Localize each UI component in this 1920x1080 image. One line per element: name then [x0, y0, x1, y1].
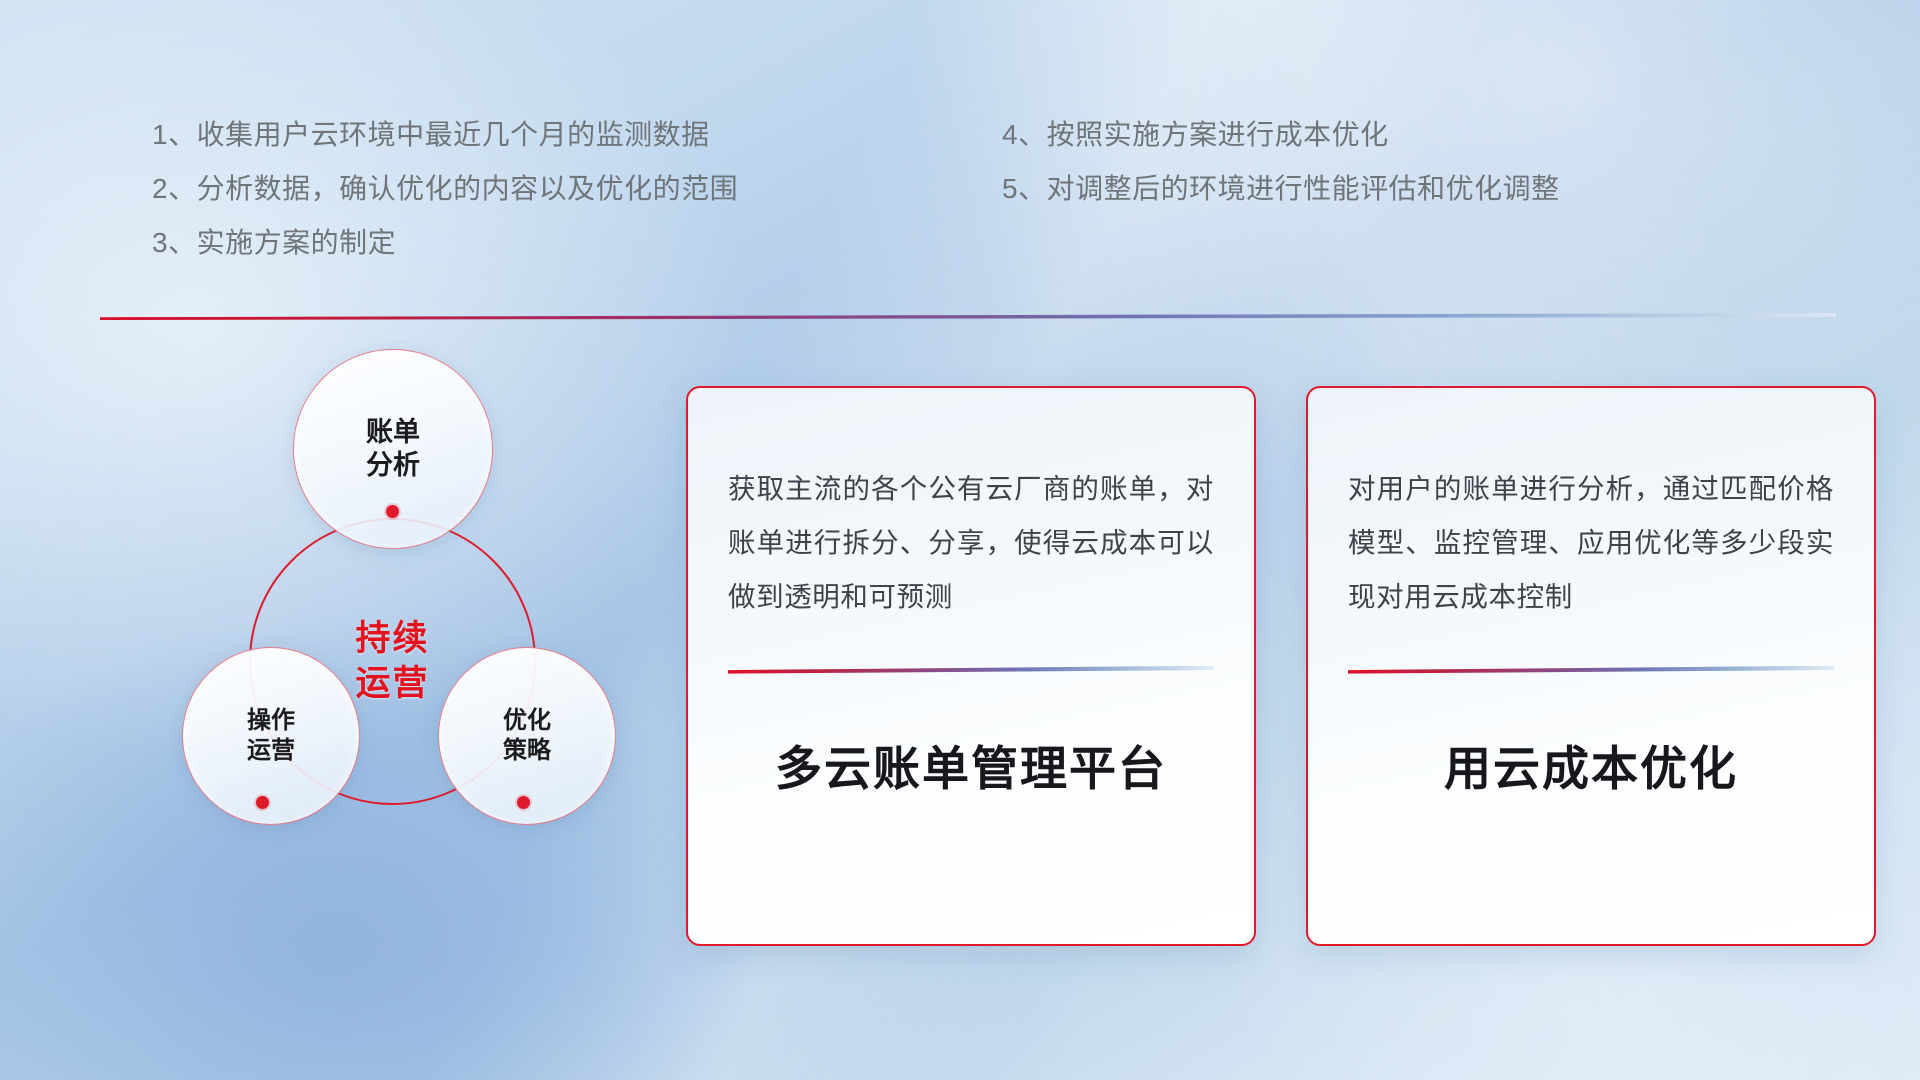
step-item: 3、实施方案的制定	[152, 216, 738, 270]
continuous-operation-diagram: 持续 运营 账单 分析 操作 运营 优化 策略	[98, 355, 638, 935]
center-label-line-2: 运营	[355, 662, 429, 706]
card-cloud-cost-optimization[interactable]: 对用户的账单进行分析，通过匹配价格模型、监控管理、应用优化等多少段实现对用云成本…	[1306, 386, 1876, 946]
center-label-line-1: 持续	[355, 617, 429, 661]
step-item: 5、对调整后的环境进行性能评估和优化调整	[1002, 162, 1560, 216]
steps-list-right: 4、按照实施方案进行成本优化 5、对调整后的环境进行性能评估和优化调整	[1002, 108, 1560, 216]
card-multicloud-bill-platform[interactable]: 获取主流的各个公有云厂商的账单，对账单进行拆分、分享，使得云成本可以做到透明和可…	[686, 386, 1256, 946]
step-item: 1、收集用户云环境中最近几个月的监测数据	[152, 108, 738, 162]
bubble-label-line-1: 优化	[503, 706, 551, 736]
bubble-label-line-1: 操作	[247, 706, 295, 736]
bubble-label-line-2: 分析	[366, 449, 420, 482]
step-item: 2、分析数据，确认优化的内容以及优化的范围	[152, 162, 738, 216]
card-divider-bar	[728, 666, 1214, 674]
connector-dot-icon	[386, 505, 399, 518]
bubble-label-line-2: 运营	[247, 736, 295, 766]
bubble-label-line-1: 账单	[366, 416, 420, 449]
slide-canvas: 1、收集用户云环境中最近几个月的监测数据 2、分析数据，确认优化的内容以及优化的…	[0, 0, 1920, 1080]
connector-dot-icon	[256, 796, 269, 809]
bubble-label-line-2: 策略	[503, 736, 551, 766]
card-divider-bar	[1348, 666, 1834, 674]
step-item: 4、按照实施方案进行成本优化	[1002, 108, 1560, 162]
card-title: 用云成本优化	[1348, 730, 1834, 799]
bubble-operation[interactable]: 操作 运营	[182, 647, 360, 825]
card-title: 多云账单管理平台	[728, 730, 1214, 799]
header-divider-bar	[100, 313, 1836, 320]
connector-dot-icon	[517, 796, 530, 809]
card-body-text: 对用户的账单进行分析，通过匹配价格模型、监控管理、应用优化等多少段实现对用云成本…	[1348, 462, 1834, 624]
card-body-text: 获取主流的各个公有云厂商的账单，对账单进行拆分、分享，使得云成本可以做到透明和可…	[728, 462, 1214, 624]
bubble-bill-analysis[interactable]: 账单 分析	[293, 349, 493, 549]
steps-list-left: 1、收集用户云环境中最近几个月的监测数据 2、分析数据，确认优化的内容以及优化的…	[152, 108, 738, 270]
